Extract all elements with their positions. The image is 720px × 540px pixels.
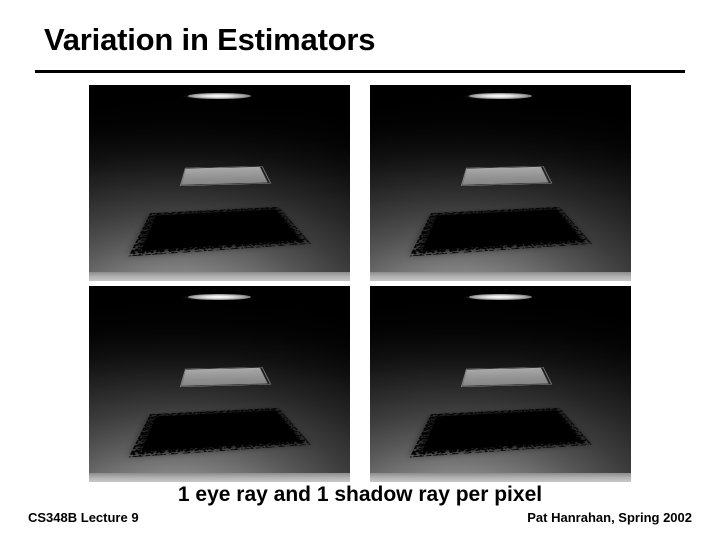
translucent-quad (182, 367, 268, 385)
floor-highlight-strip (370, 473, 631, 482)
floor-highlight-strip (370, 272, 631, 281)
render-image-top-right (370, 85, 631, 281)
translucent-quad (182, 166, 268, 184)
floor-highlight-strip (89, 473, 350, 482)
render-image-bottom-left (89, 286, 350, 482)
footer-course-label: CS348B Lecture 9 (28, 510, 139, 526)
footer-author-label: Pat Hanrahan, Spring 2002 (527, 510, 692, 526)
figure-caption: 1 eye ray and 1 shadow ray per pixel (0, 483, 720, 507)
translucent-quad (463, 367, 549, 385)
render-image-top-left (89, 85, 350, 281)
render-image-grid (89, 85, 631, 481)
translucent-quad (463, 166, 549, 184)
slide-canvas: Variation in Estimators (0, 0, 720, 540)
floor-highlight-strip (89, 272, 350, 281)
render-image-bottom-right (370, 286, 631, 482)
page-title: Variation in Estimators (44, 20, 684, 64)
title-divider (35, 70, 685, 73)
